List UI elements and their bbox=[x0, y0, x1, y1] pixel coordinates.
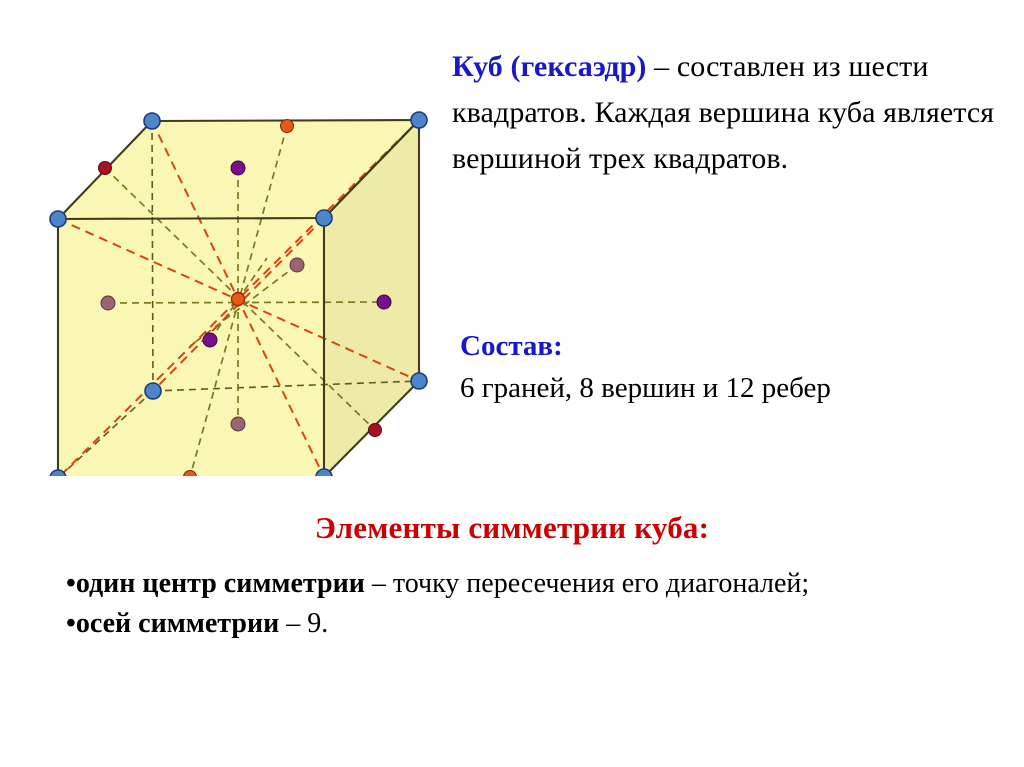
bullet-strong-text: один центр симметрии bbox=[76, 568, 365, 599]
face-center-top-purple bbox=[231, 161, 245, 175]
vertex-back-bottom-left bbox=[145, 383, 161, 399]
vertex-front-top-right bbox=[316, 210, 332, 226]
cube-hidden-edge-a bbox=[152, 121, 153, 391]
bullet-rest-text: – 9. bbox=[279, 608, 328, 639]
vertex-front-top-left bbox=[50, 211, 66, 227]
bullet-rest-text: – точку пересечения его диагоналей; bbox=[365, 568, 809, 599]
vertex-back-top-left bbox=[144, 113, 160, 129]
cube-diagram bbox=[14, 46, 444, 476]
symmetry-center-dot bbox=[232, 293, 245, 306]
bullet-strong-text: осей симметрии bbox=[76, 608, 279, 639]
composition-title: Состав: bbox=[460, 328, 1017, 364]
bullet-marker: • bbox=[66, 608, 76, 639]
composition-body: 6 граней, 8 вершин и 12 ребер bbox=[460, 368, 1017, 408]
face-center-back-mauve bbox=[290, 258, 304, 272]
list-item: •осей симметрии – 9. bbox=[66, 604, 966, 644]
face-center-left-mauve bbox=[101, 296, 115, 310]
slide-root: Куб (гексаэдр) – составлен из шести квад… bbox=[0, 0, 1024, 767]
face-center-front-mauve bbox=[231, 417, 245, 431]
edge-midpoint-top-back-orange bbox=[281, 120, 294, 133]
cube-keyword: Куб (гексаэдр) bbox=[452, 50, 647, 83]
intro-paragraph: Куб (гексаэдр) – составлен из шести квад… bbox=[452, 44, 1017, 182]
list-item: •один центр симметрии – точку пересечени… bbox=[66, 564, 966, 604]
edge-midpoint-bottom-right-red bbox=[369, 424, 382, 437]
vertex-back-top-right bbox=[411, 112, 427, 128]
edge-midpoint-top-left-red bbox=[99, 162, 112, 175]
vertex-back-bottom-right bbox=[411, 373, 427, 389]
bullet-marker: • bbox=[66, 568, 76, 599]
composition-block: Состав: 6 граней, 8 вершин и 12 ребер bbox=[452, 328, 1017, 408]
intro-dash: – bbox=[647, 50, 677, 83]
symmetry-heading: Элементы симметрии куба: bbox=[0, 510, 1024, 546]
symmetry-list: •один центр симметрии – точку пересечени… bbox=[66, 564, 966, 644]
edge-midpoint-front-purple bbox=[203, 333, 217, 347]
face-center-right-purple bbox=[377, 295, 391, 309]
